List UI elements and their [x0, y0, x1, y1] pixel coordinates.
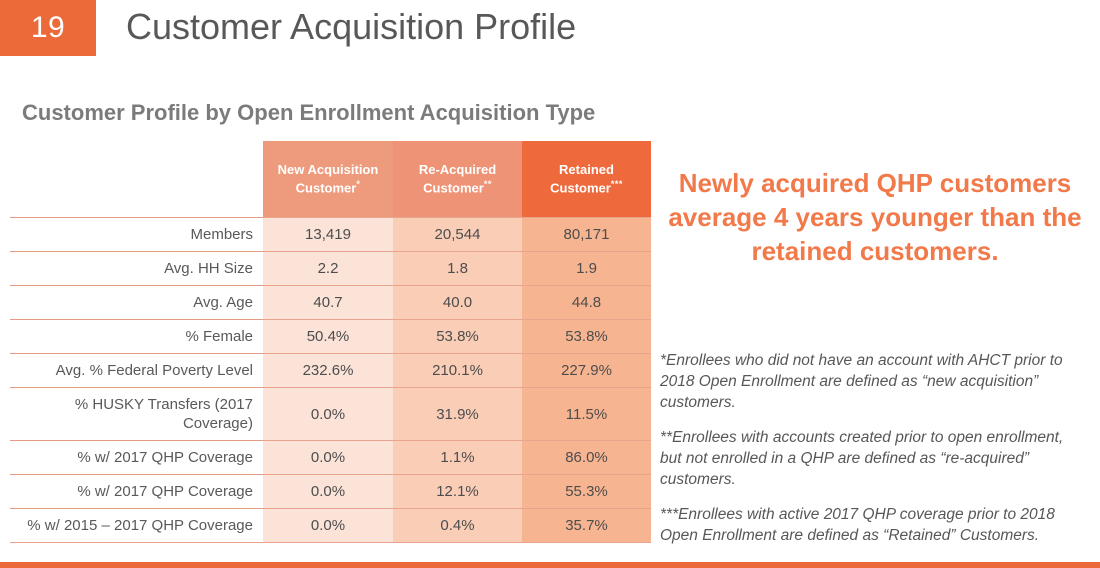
- row-label: Members: [10, 218, 263, 252]
- table-row: Avg. % Federal Poverty Level 232.6% 210.…: [10, 354, 651, 388]
- row-value-retained: 35.7%: [522, 509, 651, 543]
- table-row: Avg. Age 40.7 40.0 44.8: [10, 286, 651, 320]
- footnote-re-acquired: **Enrollees with accounts created prior …: [660, 427, 1085, 490]
- column-header-re-acquired-marker: **: [484, 179, 492, 189]
- row-value-new-acquisition: 50.4%: [263, 320, 393, 354]
- table-corner-cell: [10, 141, 263, 218]
- table-row: % w/ 2017 QHP Coverage 0.0% 1.1% 86.0%: [10, 441, 651, 475]
- row-value-re-acquired: 210.1%: [393, 354, 522, 388]
- customer-profile-table: New Acquisition Customer* Re-Acquired Cu…: [10, 141, 651, 543]
- section-subtitle: Customer Profile by Open Enrollment Acqu…: [22, 100, 595, 126]
- row-value-re-acquired: 53.8%: [393, 320, 522, 354]
- row-value-new-acquisition: 13,419: [263, 218, 393, 252]
- column-header-new-acquisition-label: New Acquisition Customer: [278, 162, 379, 195]
- row-value-retained: 1.9: [522, 252, 651, 286]
- bottom-accent-bar: [0, 562, 1100, 568]
- row-label: % w/ 2015 – 2017 QHP Coverage: [10, 509, 263, 543]
- column-header-re-acquired: Re-Acquired Customer**: [393, 141, 522, 218]
- row-value-new-acquisition: 0.0%: [263, 441, 393, 475]
- row-label: Avg. Age: [10, 286, 263, 320]
- row-value-re-acquired: 0.4%: [393, 509, 522, 543]
- row-value-new-acquisition: 0.0%: [263, 509, 393, 543]
- row-label: % HUSKY Transfers (2017 Coverage): [10, 388, 263, 441]
- column-header-retained-label: Retained Customer: [550, 162, 614, 195]
- column-header-retained-marker: ***: [611, 179, 623, 189]
- row-value-re-acquired: 20,544: [393, 218, 522, 252]
- row-label: % w/ 2017 QHP Coverage: [10, 475, 263, 509]
- row-value-new-acquisition: 0.0%: [263, 475, 393, 509]
- row-value-re-acquired: 1.8: [393, 252, 522, 286]
- table-row: % HUSKY Transfers (2017 Coverage) 0.0% 3…: [10, 388, 651, 441]
- row-value-retained: 86.0%: [522, 441, 651, 475]
- row-value-retained: 53.8%: [522, 320, 651, 354]
- table-row: Members 13,419 20,544 80,171: [10, 218, 651, 252]
- customer-profile-table-container: New Acquisition Customer* Re-Acquired Cu…: [10, 141, 651, 543]
- column-header-new-acquisition: New Acquisition Customer*: [263, 141, 393, 218]
- column-header-retained: Retained Customer***: [522, 141, 651, 218]
- row-value-retained: 44.8: [522, 286, 651, 320]
- slide-number-badge: 19: [0, 0, 96, 56]
- row-value-re-acquired: 31.9%: [393, 388, 522, 441]
- row-label: Avg. % Federal Poverty Level: [10, 354, 263, 388]
- table-row: % w/ 2017 QHP Coverage 0.0% 12.1% 55.3%: [10, 475, 651, 509]
- footnote-retained: ***Enrollees with active 2017 QHP covera…: [660, 504, 1085, 546]
- row-value-new-acquisition: 2.2: [263, 252, 393, 286]
- footnotes-container: *Enrollees who did not have an account w…: [660, 350, 1085, 546]
- row-label: Avg. HH Size: [10, 252, 263, 286]
- table-header: New Acquisition Customer* Re-Acquired Cu…: [10, 141, 651, 218]
- table-body: Members 13,419 20,544 80,171 Avg. HH Siz…: [10, 218, 651, 543]
- table-row: Avg. HH Size 2.2 1.8 1.9: [10, 252, 651, 286]
- key-insight-callout: Newly acquired QHP customers average 4 y…: [660, 166, 1090, 268]
- table-header-row: New Acquisition Customer* Re-Acquired Cu…: [10, 141, 651, 218]
- row-value-re-acquired: 40.0: [393, 286, 522, 320]
- row-value-new-acquisition: 0.0%: [263, 388, 393, 441]
- row-value-retained: 80,171: [522, 218, 651, 252]
- row-value-retained: 11.5%: [522, 388, 651, 441]
- footnote-new-acquisition: *Enrollees who did not have an account w…: [660, 350, 1085, 413]
- row-value-re-acquired: 1.1%: [393, 441, 522, 475]
- row-value-re-acquired: 12.1%: [393, 475, 522, 509]
- row-value-retained: 55.3%: [522, 475, 651, 509]
- table-row: % w/ 2015 – 2017 QHP Coverage 0.0% 0.4% …: [10, 509, 651, 543]
- row-value-retained: 227.9%: [522, 354, 651, 388]
- row-value-new-acquisition: 232.6%: [263, 354, 393, 388]
- row-label: % Female: [10, 320, 263, 354]
- page-title: Customer Acquisition Profile: [126, 0, 576, 56]
- column-header-new-acquisition-marker: *: [356, 179, 360, 189]
- table-row: % Female 50.4% 53.8% 53.8%: [10, 320, 651, 354]
- row-label: % w/ 2017 QHP Coverage: [10, 441, 263, 475]
- row-value-new-acquisition: 40.7: [263, 286, 393, 320]
